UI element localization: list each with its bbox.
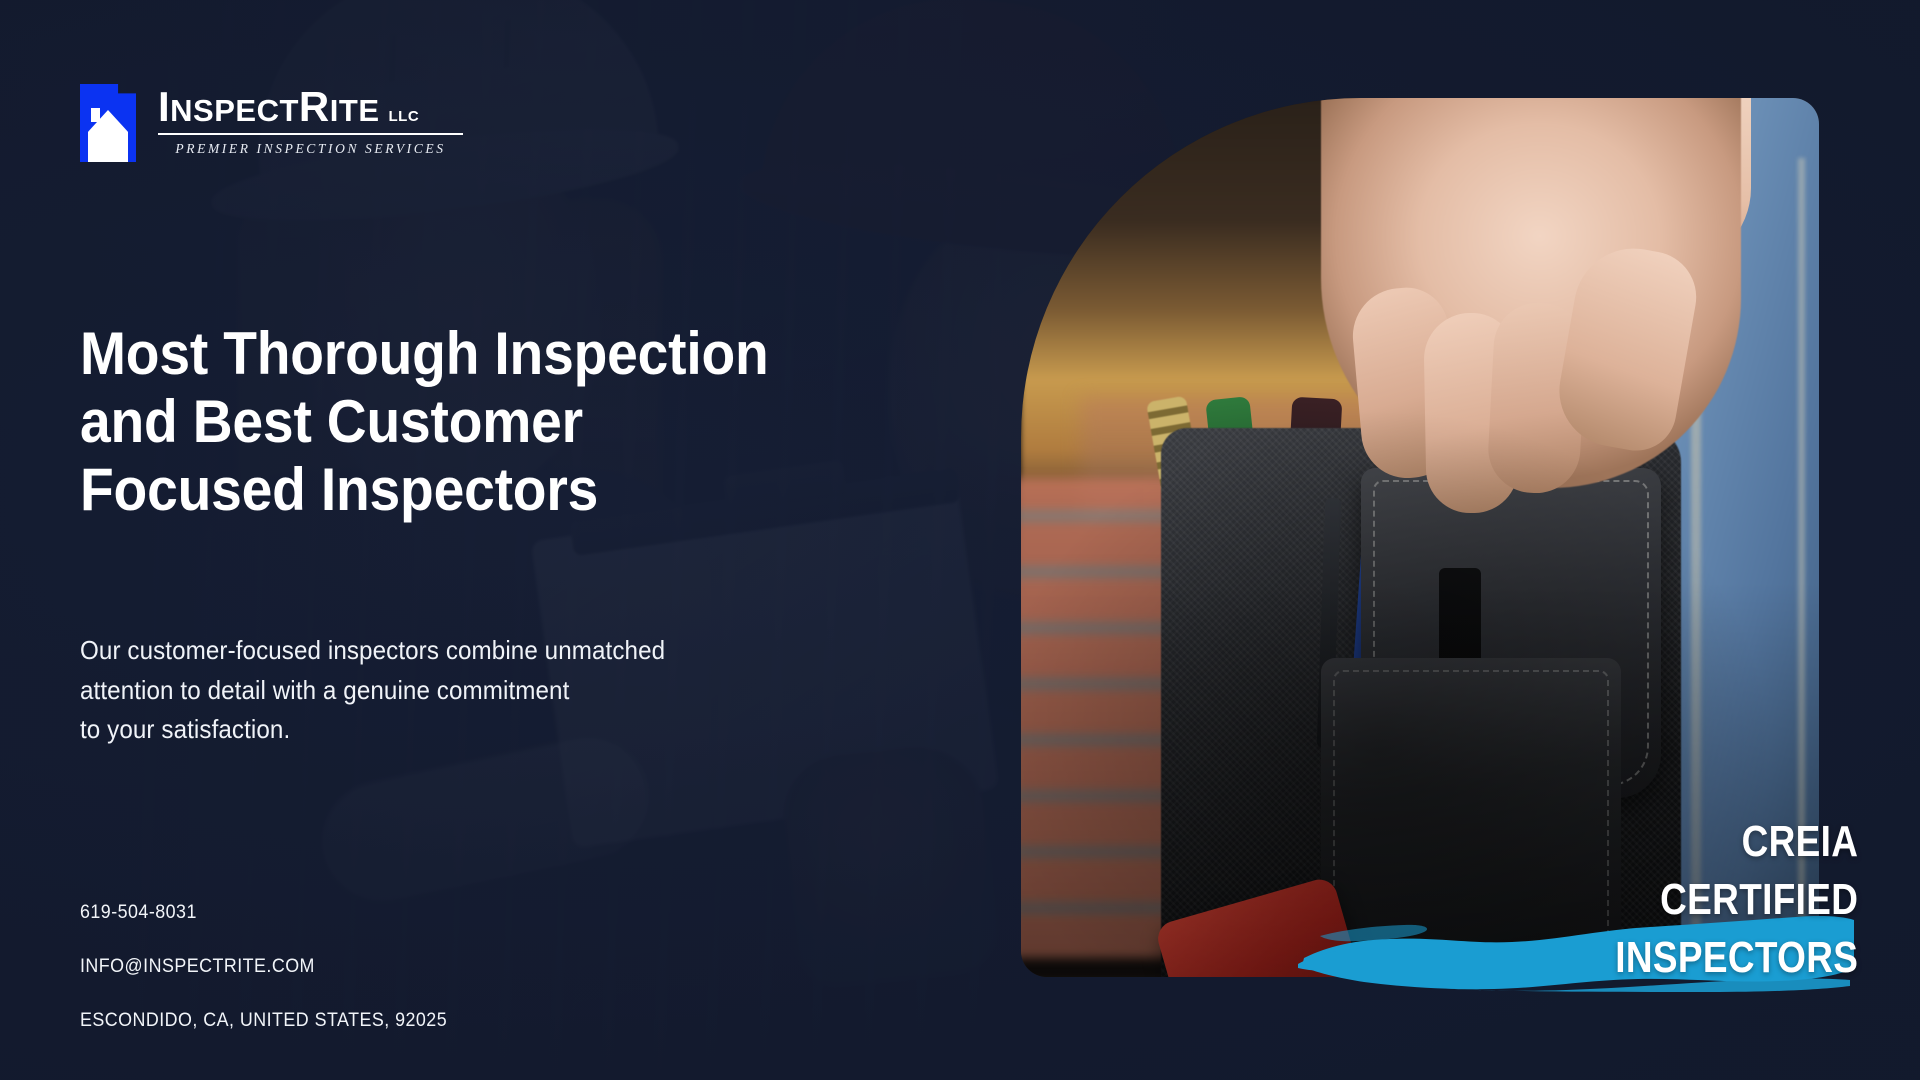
headline-line-2: and Best Customer xyxy=(80,388,816,456)
contact-info: 619-504-8031 INFO@INSPECTRITE.COM ESCOND… xyxy=(80,902,471,1032)
brand-name-part4: ITE xyxy=(330,95,380,126)
contact-email[interactable]: INFO@INSPECTRITE.COM xyxy=(80,956,447,978)
brand-tagline: PREMIER INSPECTION SERVICES xyxy=(158,141,463,157)
subcopy-line-3: to your satisfaction. xyxy=(80,710,787,750)
headline-line-3: Focused Inspectors xyxy=(80,456,816,524)
badge-line-3: INSPECTORS xyxy=(1615,936,1858,980)
page-title: Most Thorough Inspection and Best Custom… xyxy=(80,320,816,523)
creia-certification-badge: CREIA CERTIFIED INSPECTORS xyxy=(1298,772,1858,1002)
contact-address: ESCONDIDO, CA, UNITED STATES, 92025 xyxy=(80,1010,447,1032)
house-logo-icon xyxy=(80,84,136,162)
brand-name-part1: I xyxy=(158,86,170,128)
subcopy-line-1: Our customer-focused inspectors combine … xyxy=(80,631,787,671)
logo-divider xyxy=(158,133,463,135)
brand-name: INSPECTRITELLC xyxy=(158,86,463,128)
marketing-banner: INSPECTRITELLC PREMIER INSPECTION SERVIC… xyxy=(0,0,1920,1080)
logo-chimney-shape xyxy=(91,108,100,122)
subcopy-line-2: attention to detail with a genuine commi… xyxy=(80,671,787,711)
brand-logo[interactable]: INSPECTRITELLC PREMIER INSPECTION SERVIC… xyxy=(80,84,463,162)
brand-suffix: LLC xyxy=(389,109,420,124)
brand-name-part2: NSPECT xyxy=(170,95,299,126)
badge-line-2: CERTIFIED xyxy=(1615,878,1858,922)
badge-label: CREIA CERTIFIED INSPECTORS xyxy=(1569,820,1858,980)
hero-description: Our customer-focused inspectors combine … xyxy=(80,631,787,750)
headline-line-1: Most Thorough Inspection xyxy=(80,320,816,388)
brand-name-part3: R xyxy=(299,86,330,128)
badge-line-1: CREIA xyxy=(1615,820,1858,864)
contact-phone[interactable]: 619-504-8031 xyxy=(80,902,447,924)
brand-wordmark: INSPECTRITELLC PREMIER INSPECTION SERVIC… xyxy=(158,84,463,157)
